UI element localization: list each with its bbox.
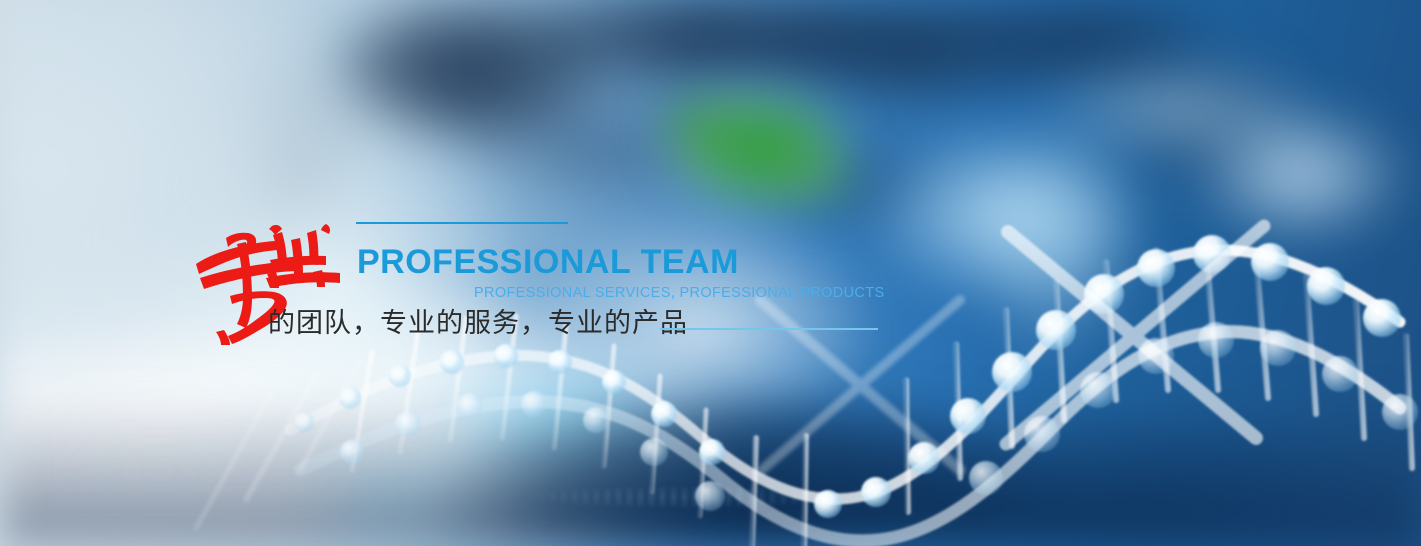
page-title-headline: PROFESSIONAL TEAM	[357, 245, 739, 279]
subtitle-tagline: PROFESSIONAL SERVICES, PROFESSIONAL PROD…	[474, 286, 884, 301]
horizontal-rule-right-of-chinese-line	[660, 328, 878, 330]
horizontal-rule-above-headline	[356, 222, 568, 224]
chinese-tagline: 的团队，专业的服务，专业的产品	[268, 307, 688, 339]
banner-content: PROFESSIONAL TEAM PROFESSIONAL SERVICES,…	[0, 0, 1421, 546]
promotional-banner: PROFESSIONAL TEAM PROFESSIONAL SERVICES,…	[0, 0, 1421, 546]
